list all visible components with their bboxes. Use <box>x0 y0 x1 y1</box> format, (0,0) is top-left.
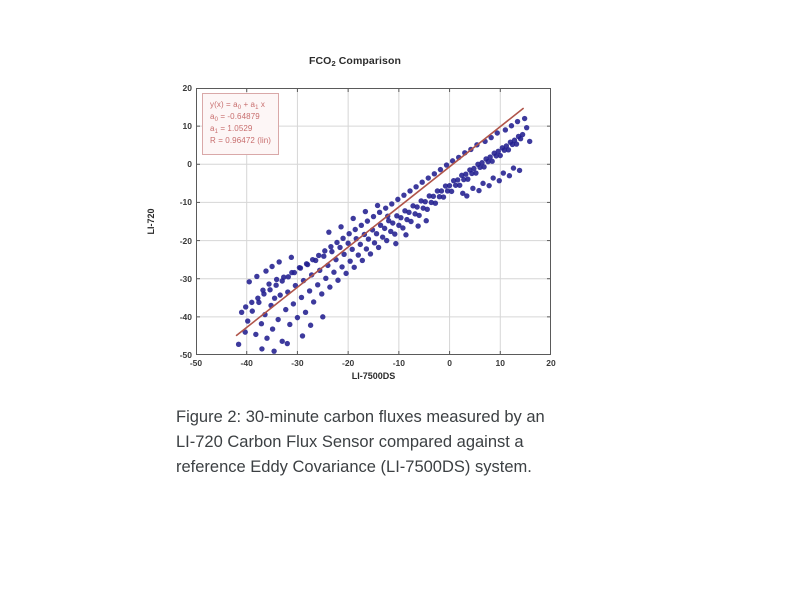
scatter-points <box>236 116 533 354</box>
x-tick--20: -20 <box>342 358 354 368</box>
chart-area: FCO2 Comparison 20100-10-20-30-40-50 -50… <box>140 55 570 390</box>
fit-model-prefix: y(x) = a <box>210 100 238 109</box>
chart-title-base: FCO <box>309 55 331 67</box>
fit-a1-sub: 1 <box>215 129 218 135</box>
x-tick--40: -40 <box>241 358 253 368</box>
x-tick--10: -10 <box>393 358 405 368</box>
regression-line <box>237 109 524 336</box>
y-tick-10: 10 <box>183 121 192 131</box>
fit-model-sub0: 0 <box>238 105 241 111</box>
fit-a1-line: a1 = 1.0529 <box>210 123 271 135</box>
y-tick--40: -40 <box>180 312 192 322</box>
fit-a1-label: a <box>210 124 215 133</box>
x-tick--30: -30 <box>291 358 303 368</box>
fit-a0-value: = -0.64879 <box>218 112 260 121</box>
x-axis-label: LI-7500DS <box>196 371 551 381</box>
fit-model-end: x <box>259 100 265 109</box>
y-tick--10: -10 <box>180 197 192 207</box>
chart-title: FCO2 Comparison <box>140 55 570 67</box>
plot-area: 20100-10-20-30-40-50 -50-40-30-20-100102… <box>196 88 551 355</box>
figure-caption: Figure 2: 30-minute carbon fluxes measur… <box>176 405 566 480</box>
x-tick-20: 20 <box>546 358 555 368</box>
x-tick--50: -50 <box>190 358 202 368</box>
figure-page: FCO2 Comparison 20100-10-20-30-40-50 -50… <box>0 0 800 600</box>
x-tick-0: 0 <box>447 358 452 368</box>
fit-annotation-box: y(x) = a0 + a1 x a0 = -0.64879 a1 = 1.05… <box>202 93 279 155</box>
y-axis-label: LI-720 <box>146 88 160 355</box>
fit-model-sub1: 1 <box>255 105 258 111</box>
chart-title-rest: Comparison <box>336 55 401 67</box>
x-tick-10: 10 <box>496 358 505 368</box>
fit-r-line: R = 0.96472 (lin) <box>210 135 271 147</box>
fit-a0-line: a0 = -0.64879 <box>210 111 271 123</box>
y-tick-0: 0 <box>187 159 192 169</box>
chart-title-subscript: 2 <box>331 59 335 68</box>
figure-block: FCO2 Comparison 20100-10-20-30-40-50 -50… <box>140 55 570 390</box>
fit-model-line: y(x) = a0 + a1 x <box>210 99 271 111</box>
y-tick-20: 20 <box>183 83 192 93</box>
fit-a1-value: = 1.0529 <box>218 124 253 133</box>
fit-model-mid: + a <box>241 100 255 109</box>
fit-a0-label: a <box>210 112 215 121</box>
fit-a0-sub: 0 <box>215 117 218 123</box>
y-tick--20: -20 <box>180 236 192 246</box>
y-tick--30: -30 <box>180 274 192 284</box>
